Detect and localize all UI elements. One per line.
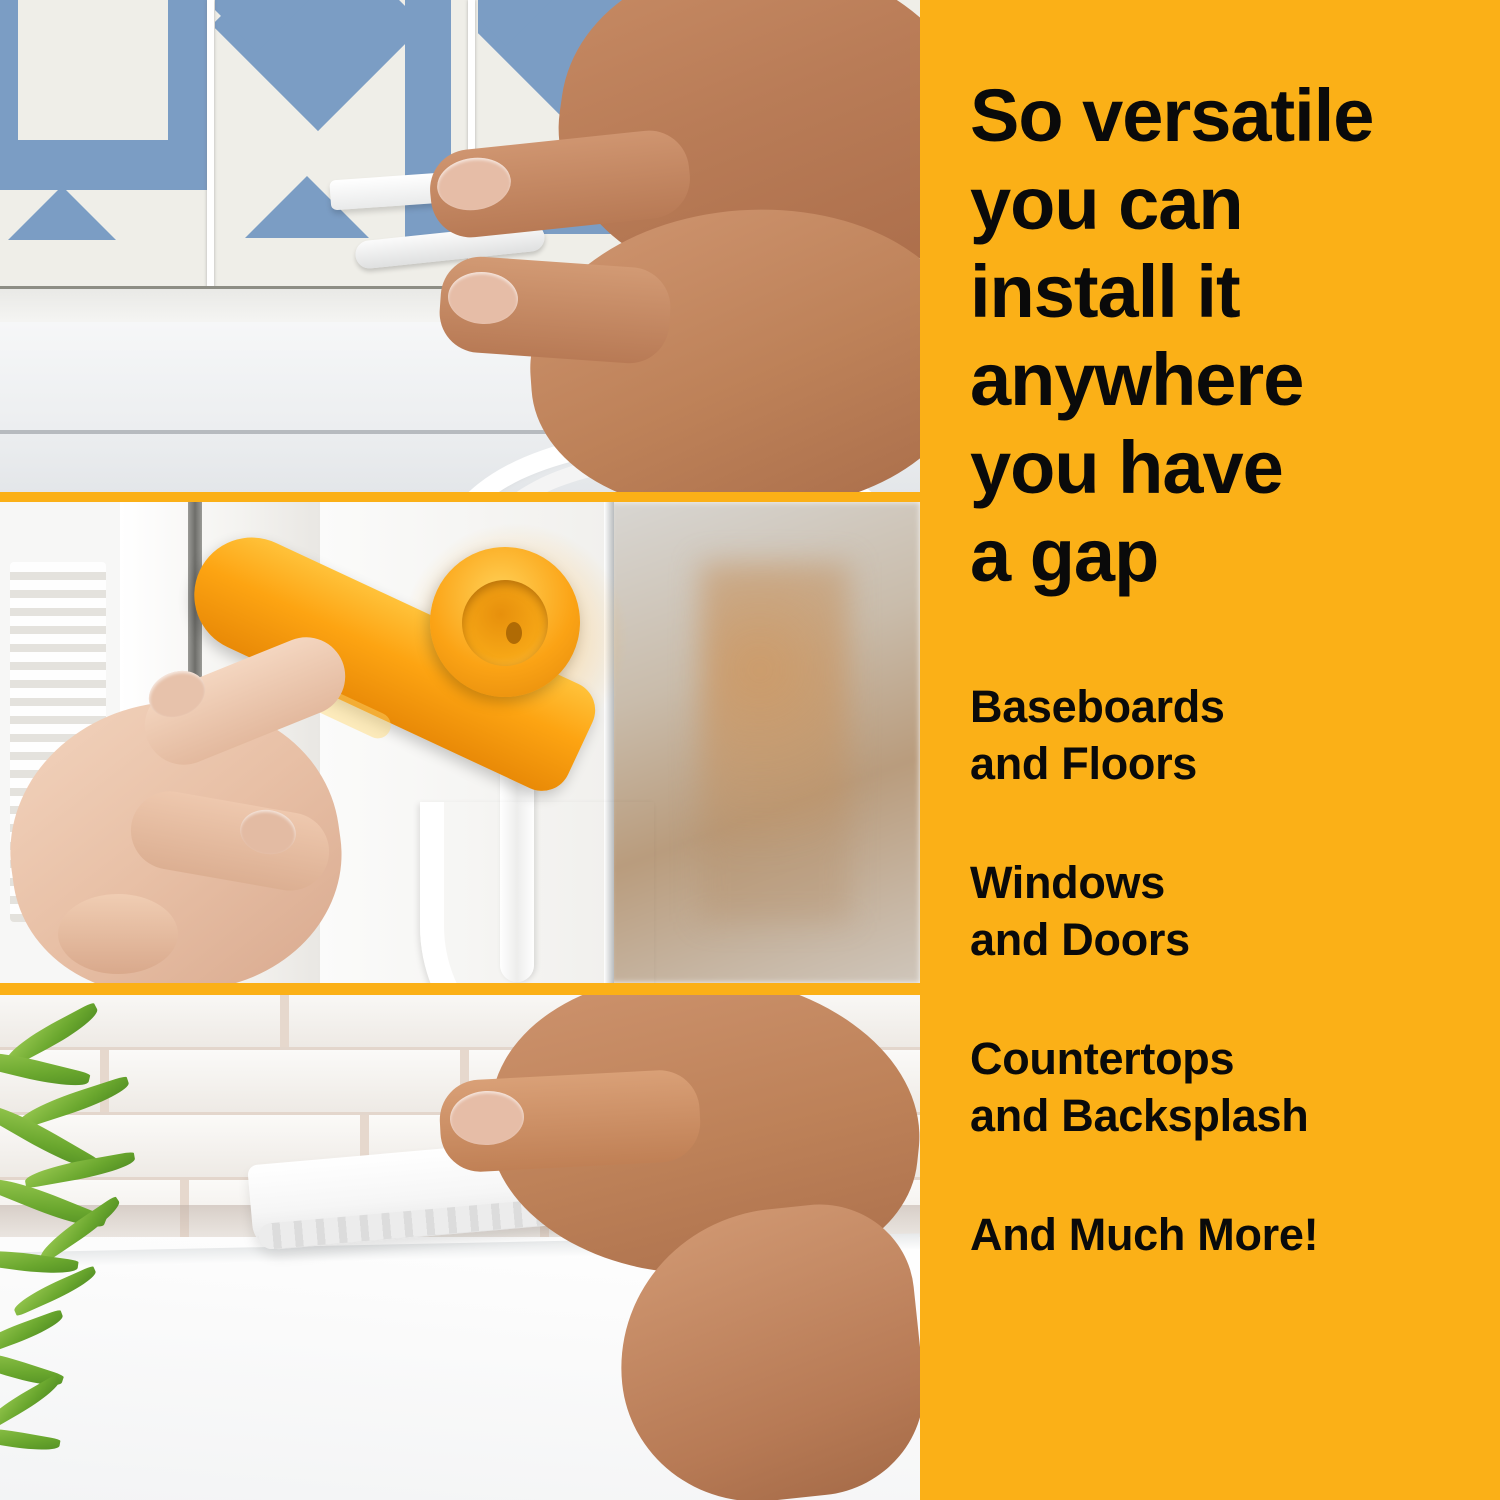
photo-bottom <box>0 995 920 1500</box>
photo-divider <box>0 983 920 993</box>
window-frame-scene <box>0 502 920 983</box>
benefit-item-windows-and-doors: Windows and Doors <box>970 854 1490 968</box>
benefit-item-and-much-more: And Much More! <box>970 1206 1490 1263</box>
thumb-tip <box>58 894 178 974</box>
applicator-tool-cup <box>462 580 548 666</box>
green-plant-lower <box>0 1315 110 1500</box>
tile-grout-seam <box>207 0 214 300</box>
benefit-item-countertops-and-backsplash: Countertops and Backsplash <box>970 1030 1490 1144</box>
photo-middle <box>0 502 920 983</box>
green-plant <box>0 1015 200 1345</box>
headline: So versatile you can install it anywhere… <box>970 72 1480 600</box>
product-feature-poster: So versatile you can install it anywhere… <box>0 0 1500 1500</box>
glass-reflection <box>700 562 850 922</box>
photo-divider <box>0 492 920 502</box>
tile-backsplash-scene <box>0 0 920 492</box>
applicator-tool-vent-hole <box>506 622 522 644</box>
caulk-strip-curve <box>420 802 654 983</box>
marketing-text-panel: So versatile you can install it anywhere… <box>920 0 1500 1500</box>
benefit-list: Baseboards and Floors Windows and Doors … <box>970 678 1490 1263</box>
countertop-backsplash-scene <box>0 995 920 1500</box>
photo-column <box>0 0 920 1500</box>
tile-motif-square <box>0 0 210 240</box>
benefit-item-baseboards-and-floors: Baseboards and Floors <box>970 678 1490 792</box>
photo-top <box>0 0 920 492</box>
